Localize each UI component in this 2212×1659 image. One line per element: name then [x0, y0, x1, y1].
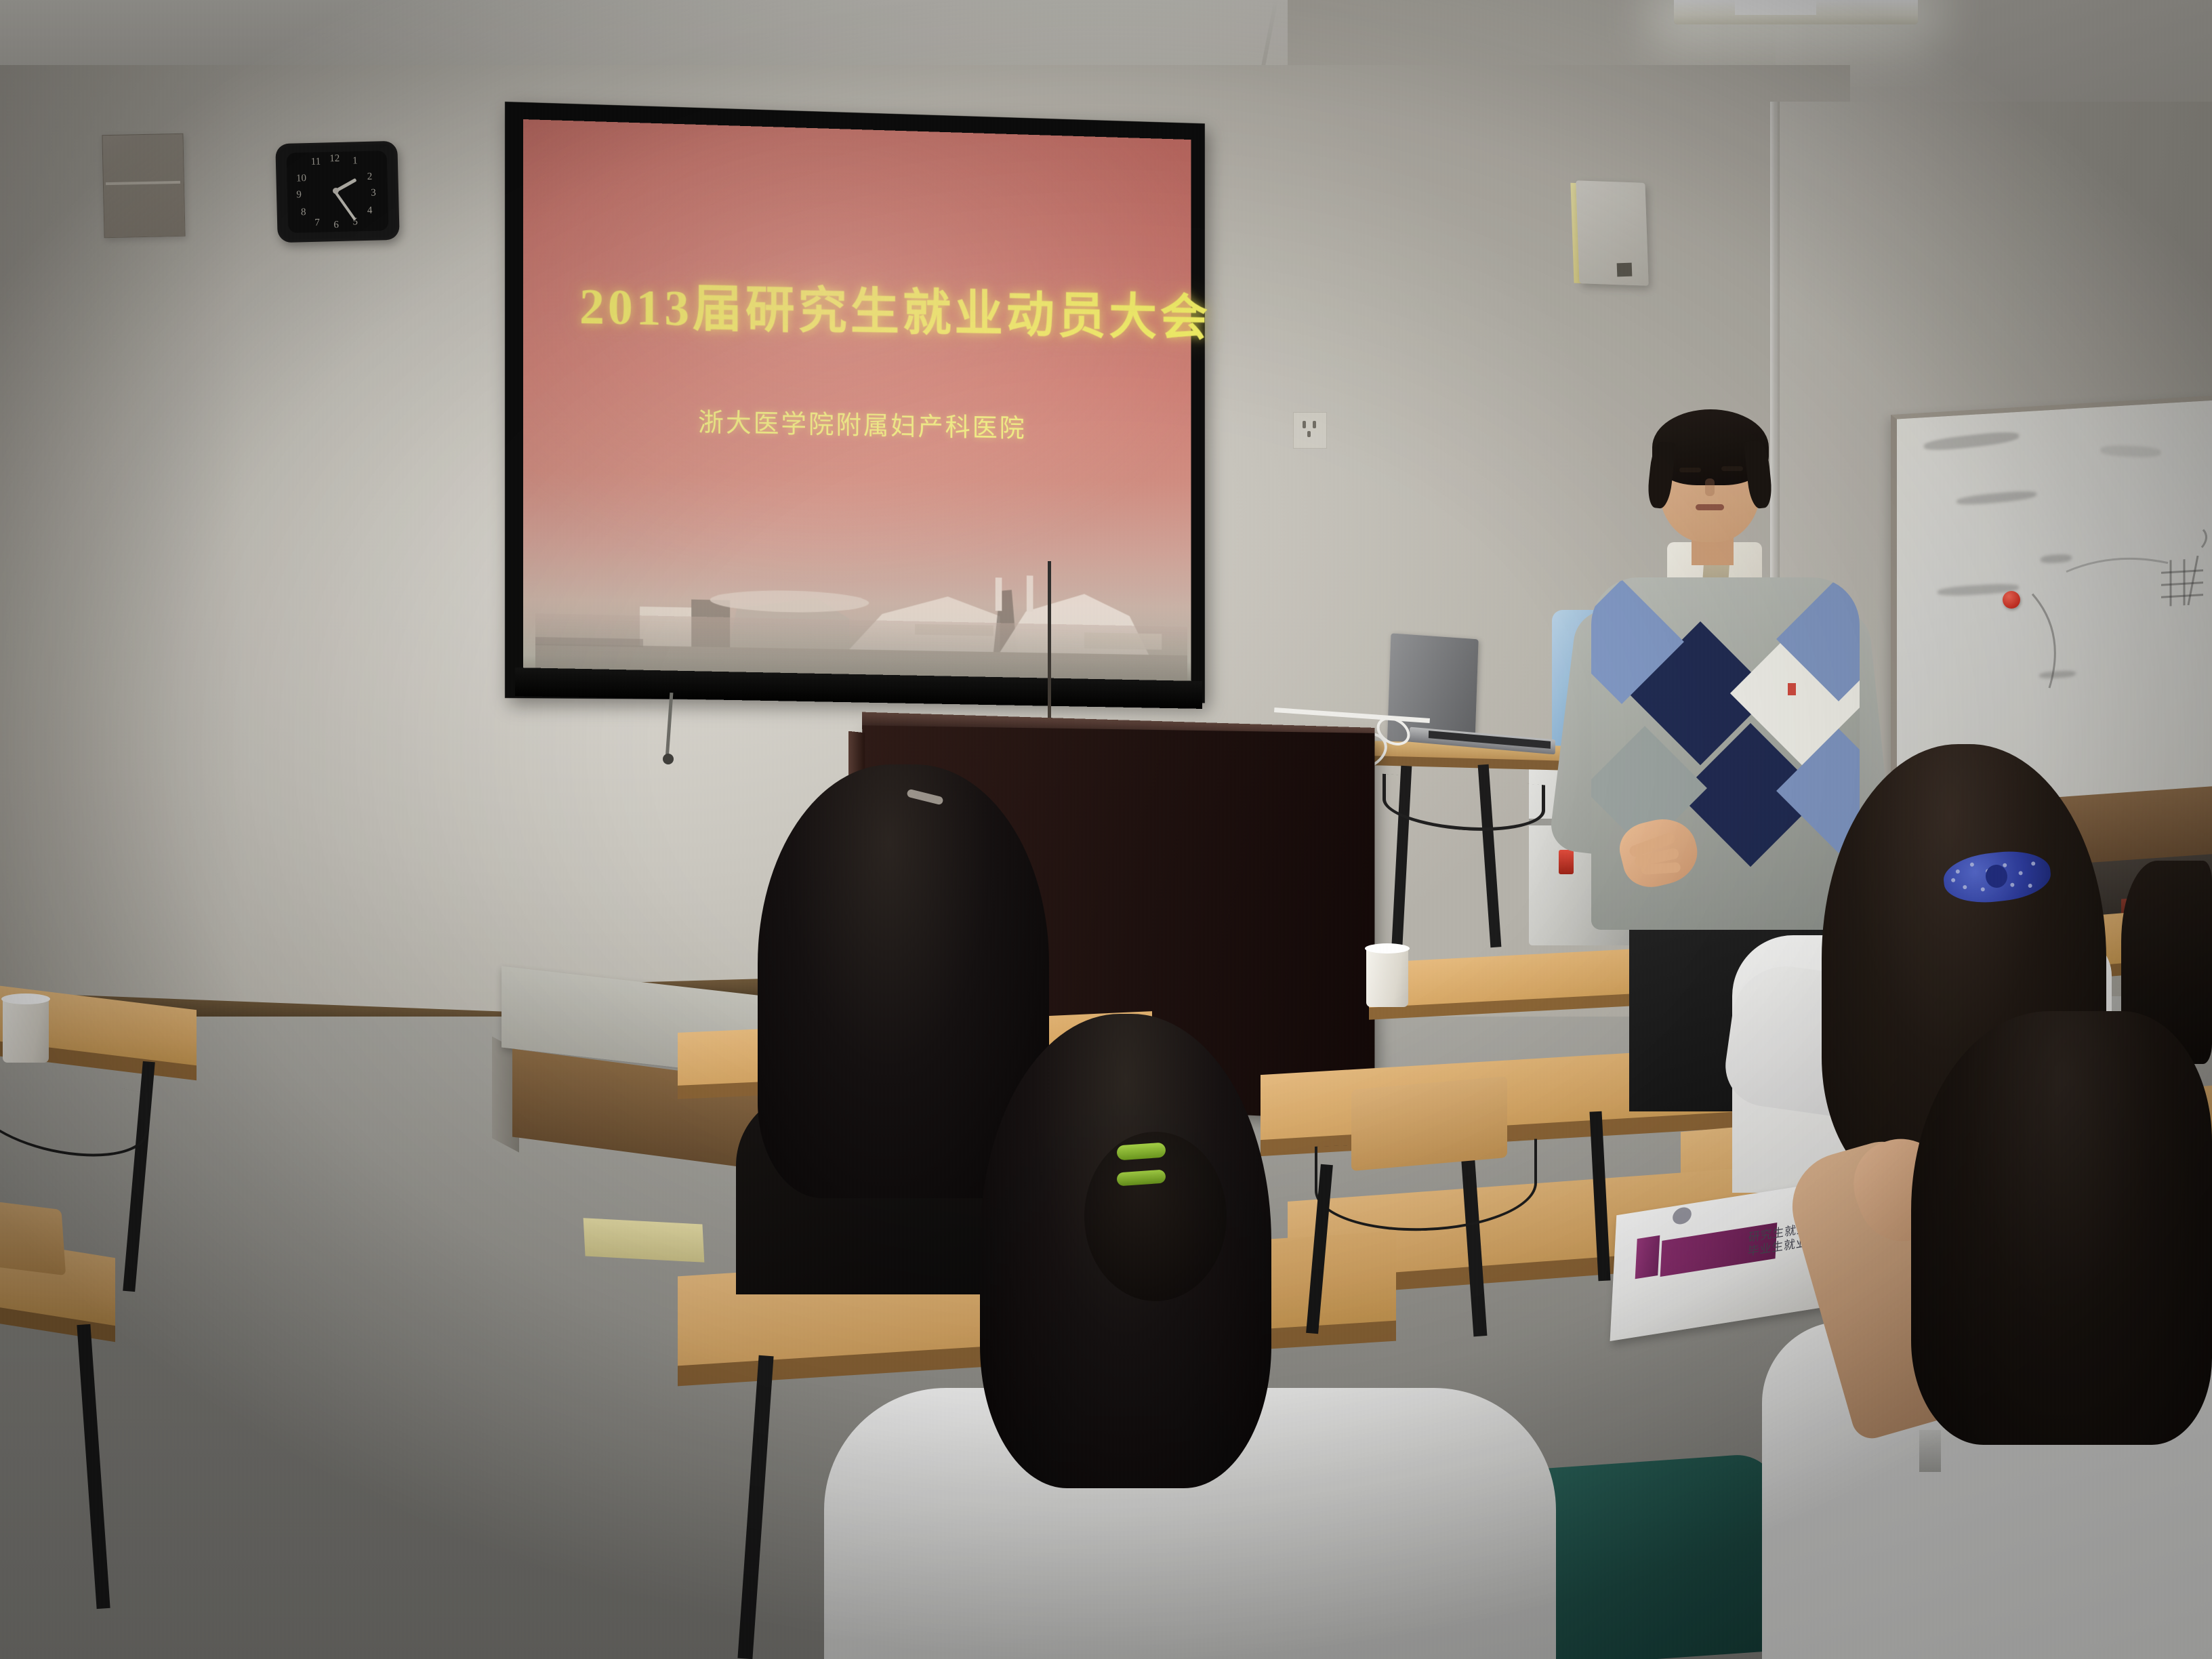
clock-face: 12 1 2 3 4 5 6 7 8 9 10 11 [287, 150, 389, 233]
paper-cup-left-rim [1, 994, 50, 1004]
power-outlet[interactable] [1293, 412, 1327, 449]
clock-number-3: 3 [367, 187, 380, 199]
water-cooler-tap[interactable] [1559, 850, 1574, 874]
clock-number-7: 7 [311, 218, 323, 229]
outlet-hole-right [1313, 421, 1316, 428]
presenter-eye-left [1679, 468, 1701, 472]
outlet-hole-left [1303, 421, 1306, 428]
clock-number-1: 1 [349, 155, 361, 167]
paper-on-floor[interactable] [583, 1218, 705, 1262]
paper-cup-center-rim [1365, 943, 1410, 954]
clock-number-4: 4 [364, 205, 376, 217]
wall-speaker-panel [102, 134, 185, 238]
chair-center-right-back[interactable] [1351, 1076, 1507, 1171]
presenter-mouth [1696, 504, 1724, 510]
ceiling-light-secondary [1735, 0, 1816, 15]
screen-cord-handle[interactable] [663, 754, 674, 764]
emergency-light-lens [1617, 263, 1633, 277]
clock-number-2: 2 [363, 171, 375, 183]
green-cloth [1518, 1452, 1788, 1659]
whiteboard-magnet[interactable] [2003, 591, 2020, 609]
clock-number-11: 11 [310, 157, 322, 168]
clock-number-6: 6 [330, 220, 342, 231]
paper-cup-center[interactable] [1366, 947, 1408, 1007]
chair-left-back[interactable] [0, 1200, 66, 1275]
classroom-photo: 12 1 2 3 4 5 6 7 8 9 10 11 [0, 0, 2212, 1659]
clock-number-8: 8 [298, 207, 310, 218]
presenter-nose [1705, 478, 1715, 496]
presenter-eye-right [1721, 466, 1743, 471]
emergency-light-fixture [1576, 180, 1648, 285]
outlet-hole-ground [1307, 431, 1311, 437]
booklet-spine-band [1635, 1235, 1660, 1279]
paper-cup-left[interactable] [3, 998, 49, 1063]
student-far-right-hair [1911, 1011, 2212, 1445]
presenter-sweater-logo [1788, 683, 1796, 695]
clock-number-9: 9 [293, 189, 305, 201]
clock-number-12: 12 [329, 153, 341, 165]
student-id-badge [1919, 1430, 1941, 1472]
clock-minute-hand [333, 190, 356, 221]
slide-title: 2013届研究生就业动员大会 [579, 266, 1174, 349]
clock-number-10: 10 [295, 173, 307, 184]
